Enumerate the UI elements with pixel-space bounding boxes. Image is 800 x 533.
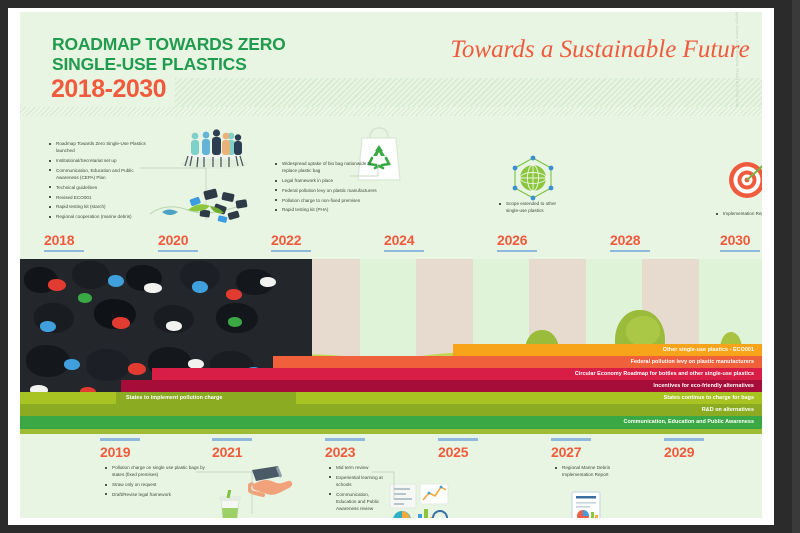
- leader-line-2023: [372, 468, 400, 504]
- list-item: Rapid testing kit (PHA): [274, 206, 378, 213]
- reusable-cup-icon: [212, 490, 248, 518]
- list-item: Regional Marine Debris Implementation Re…: [554, 464, 630, 478]
- litter-blue: [64, 359, 80, 370]
- header-hatch-band-lower: [20, 107, 762, 116]
- year-label-2029[interactable]: 2029: [664, 444, 694, 460]
- year-label-2026[interactable]: 2026: [497, 232, 527, 248]
- litter-red: [112, 317, 130, 329]
- policy-bar-label: Incentives for eco-friendly alternatives: [653, 383, 754, 389]
- milestone-list-2026: Scope extended to other single-use plast…: [498, 200, 560, 217]
- list-item: Pollution charge to non-fixed premises: [274, 197, 378, 204]
- policy-bar-label: States to implement pollution charge: [126, 395, 222, 401]
- litter-blue: [40, 321, 56, 332]
- report-document-icon: [568, 490, 604, 518]
- list-item: Communication, Education and Public Awar…: [48, 167, 156, 181]
- year-label-2027[interactable]: 2027: [551, 444, 581, 460]
- year-label-2030[interactable]: 2030: [720, 232, 750, 248]
- year-label-2019[interactable]: 2019: [100, 444, 130, 460]
- list-item: Implementation Report: [715, 210, 762, 217]
- list-item: Rapid testing kit (starch): [48, 203, 156, 210]
- list-item: Revised ECO001: [48, 194, 156, 201]
- waste-bag: [26, 345, 70, 377]
- marine-debris-fish-icon: [148, 184, 253, 232]
- policy-bar-label: Communication, Education and Public Awar…: [624, 419, 754, 425]
- tagline: Towards a Sustainable Future: [440, 36, 760, 64]
- side-credit-text: Copyright Climate 2019 Malaysia. PLASTIC…: [735, 12, 739, 117]
- milestone-list-2027: Regional Marine Debris Implementation Re…: [554, 464, 630, 481]
- policy-bar-circular-economy-roadmap: Circular Economy Roadmap for bottles and…: [152, 368, 762, 381]
- policy-bar-states-implement-charge: States to implement pollution charge: [116, 392, 296, 405]
- policy-bar-federal-pollution-levy: Federal pollution levy on plastic manufa…: [273, 356, 762, 369]
- policy-bar-other-single-use-plastics: Other single-use plastics - ECO001: [453, 344, 762, 357]
- document-page: ROADMAP TOWARDS ZERO SINGLE-USE PLASTICS…: [8, 8, 774, 525]
- year-label-2020[interactable]: 2020: [158, 232, 188, 248]
- target-dartboard-icon: [725, 155, 762, 203]
- list-item: Technical guidelines: [48, 184, 156, 191]
- list-item: Widespread uptake of bio bag nationwide …: [274, 160, 378, 174]
- tree-crown: [626, 316, 660, 346]
- header-hatch-band: [175, 78, 762, 110]
- globe-network-icon: [507, 154, 559, 204]
- screenshot-viewer: ROADMAP TOWARDS ZERO SINGLE-USE PLASTICS…: [0, 0, 800, 533]
- page-title-line1: ROADMAP TOWARDS ZERO: [52, 34, 372, 54]
- policy-bar-label: R&D on alternatives: [702, 407, 754, 413]
- policy-bar-label: Federal pollution levy on plastic manufa…: [631, 359, 754, 365]
- policy-bar-incentives-eco-friendly: Incentives for eco-friendly alternatives: [121, 380, 762, 393]
- page-title: ROADMAP TOWARDS ZERO SINGLE-USE PLASTICS: [52, 34, 372, 74]
- year-label-2024[interactable]: 2024: [384, 232, 414, 248]
- window-right-rail: [792, 0, 800, 533]
- year-label-2022[interactable]: 2022: [271, 232, 301, 248]
- litter-red: [128, 363, 146, 375]
- litter-red: [48, 279, 66, 291]
- milestone-list-2030: Implementation Report: [715, 210, 762, 220]
- policy-bar-label: Circular Economy Roadmap for bottles and…: [575, 371, 754, 377]
- list-item: Scope extended to other single-use plast…: [498, 200, 560, 214]
- list-item: Institutional/Secretariat set up: [48, 157, 156, 164]
- litter-green: [78, 293, 92, 303]
- page-title-line2: SINGLE-USE PLASTICS: [52, 54, 372, 74]
- milestone-list-2018: Roadmap Towards Zero Single-Use Plastics…: [48, 140, 156, 223]
- litter-white: [260, 277, 276, 287]
- litter-white: [144, 283, 162, 293]
- year-label-2025[interactable]: 2025: [438, 444, 468, 460]
- year-label-2028[interactable]: 2028: [610, 232, 640, 248]
- litter-red: [226, 289, 242, 300]
- waste-bag: [72, 261, 110, 289]
- list-item: Federal pollution levy on plastic manufa…: [274, 187, 378, 194]
- policy-bar-communication-education: Communication, Education and Public Awar…: [20, 416, 762, 429]
- litter-blue: [108, 275, 124, 287]
- year-label-2023[interactable]: 2023: [325, 444, 355, 460]
- policy-bar-label: Other single-use plastics - ECO001: [663, 347, 754, 353]
- year-label-2018[interactable]: 2018: [44, 232, 74, 248]
- infographic-canvas: ROADMAP TOWARDS ZERO SINGLE-USE PLASTICS…: [20, 12, 762, 518]
- waste-bag: [86, 349, 130, 381]
- milestone-list-2022: Widespread uptake of bio bag nationwide …: [274, 160, 378, 216]
- list-item: Regional cooperation (marine debris): [48, 213, 156, 220]
- list-item: Roadmap Towards Zero Single-Use Plastics…: [48, 140, 156, 154]
- litter-white: [166, 321, 182, 331]
- year-label-2021[interactable]: 2021: [212, 444, 242, 460]
- list-item: Legal framework in place: [274, 177, 378, 184]
- policy-bar-label: States continue to charge for bags: [664, 395, 754, 401]
- litter-green: [228, 317, 242, 327]
- policy-bar-rd-alternatives: R&D on alternatives: [20, 404, 762, 417]
- title-year-range: 2018-2030: [51, 75, 166, 104]
- litter-blue: [192, 281, 208, 293]
